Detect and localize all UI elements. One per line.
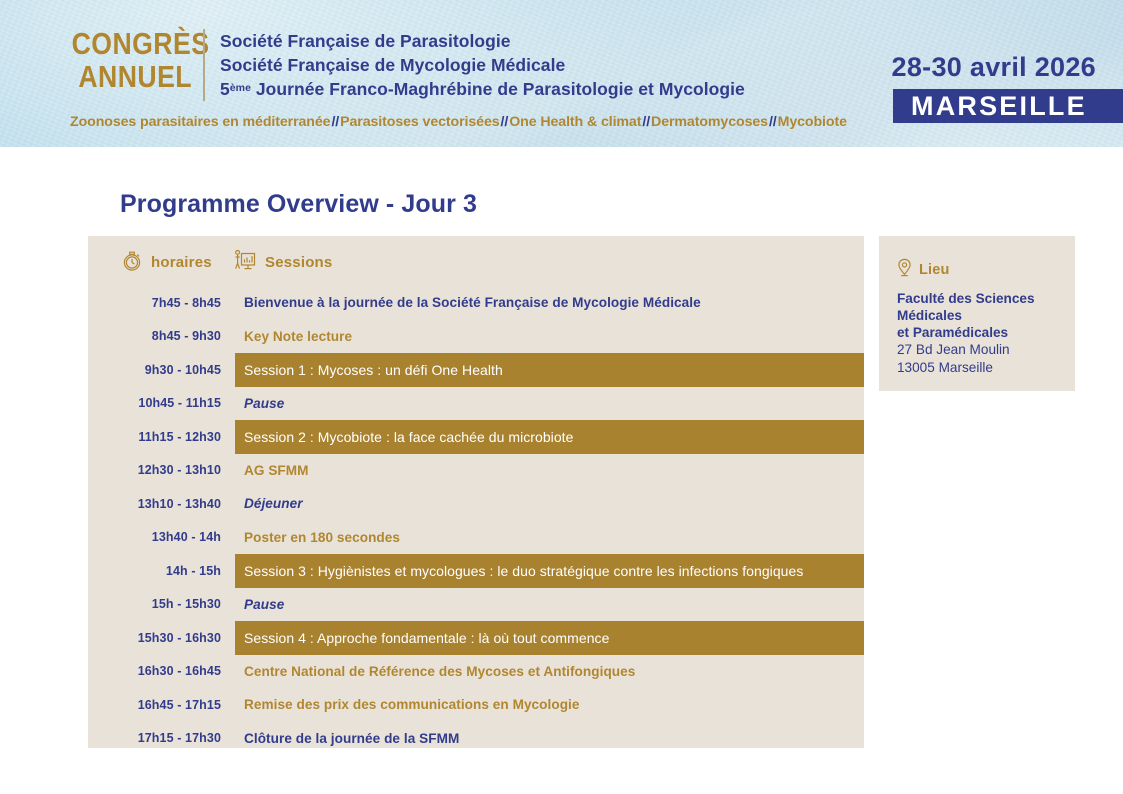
journee-line: 5ème Journée Franco-Maghrébine de Parasi… xyxy=(220,77,745,102)
table-row: 13h10 - 13h40Déjeuner xyxy=(88,487,864,521)
keyword-4: Dermatomycoses xyxy=(651,114,768,130)
keyword-separator: // xyxy=(768,114,778,130)
venue-address-line-1: 27 Bd Jean Moulin xyxy=(897,341,1059,359)
row-label: Centre National de Référence des Mycoses… xyxy=(235,655,864,689)
row-label: Pause xyxy=(235,588,864,622)
table-row: 16h30 - 16h45Centre National de Référenc… xyxy=(88,655,864,689)
row-time: 17h15 - 17h30 xyxy=(88,731,235,745)
programme-page: CONGRÈS ANNUEL Société Française de Para… xyxy=(0,0,1123,794)
session-bar[interactable]: Session 1 : Mycoses : un défi One Health xyxy=(235,353,864,387)
table-row: 14h - 15hSession 3 : Hygiènistes et myco… xyxy=(88,554,864,588)
table-row: 9h30 - 10h45Session 1 : Mycoses : un déf… xyxy=(88,353,864,387)
keyword-2: Parasitoses vectorisées xyxy=(340,114,499,130)
schedule-table: horaires xyxy=(88,236,864,748)
row-label: AG SFMM xyxy=(235,454,864,488)
session-bar[interactable]: Session 2 : Mycobiote : la face cachée d… xyxy=(235,420,864,454)
table-row: 8h45 - 9h30Key Note lecture xyxy=(88,320,864,354)
venue-name-line-2: Médicales xyxy=(897,307,1059,324)
header-banner: CONGRÈS ANNUEL Société Française de Para… xyxy=(0,0,1123,147)
venue-address-line-2: 13005 Marseille xyxy=(897,359,1059,377)
society-titles: Société Française de Parasitologie Socié… xyxy=(220,30,745,102)
keyword-5: Mycobiote xyxy=(778,114,847,130)
venue-panel: Lieu Faculté des Sciences Médicales et P… xyxy=(879,236,1075,391)
row-label: Clôture de la journée de la SFMM xyxy=(235,722,864,756)
stopwatch-icon xyxy=(121,248,143,277)
row-time: 12h30 - 13h10 xyxy=(88,463,235,477)
row-time: 8h45 - 9h30 xyxy=(88,329,235,343)
map-pin-icon xyxy=(897,258,912,282)
society-line-1: Société Française de Parasitologie xyxy=(220,30,745,54)
row-label: Bienvenue à la journée de la Société Fra… xyxy=(235,286,864,320)
table-row: 13h40 - 14hPoster en 180 secondes xyxy=(88,521,864,555)
logo-divider xyxy=(203,29,205,101)
row-time: 15h - 15h30 xyxy=(88,597,235,611)
logo-line-congres: CONGRÈS xyxy=(72,27,192,60)
row-time: 13h40 - 14h xyxy=(88,530,235,544)
table-row: 11h15 - 12h30Session 2 : Mycobiote : la … xyxy=(88,420,864,454)
session-bar[interactable]: Session 3 : Hygiènistes et mycologues : … xyxy=(235,554,864,588)
column-header-horaires: horaires xyxy=(121,248,212,277)
venue-name-line-1: Faculté des Sciences xyxy=(897,290,1059,307)
table-row: 7h45 - 8h45Bienvenue à la journée de la … xyxy=(88,286,864,320)
row-label: Pause xyxy=(235,387,864,421)
row-time: 9h30 - 10h45 xyxy=(88,363,235,377)
row-time: 10h45 - 11h15 xyxy=(88,396,235,410)
table-row: 12h30 - 13h10AG SFMM xyxy=(88,454,864,488)
congress-logo: CONGRÈS ANNUEL xyxy=(52,27,192,93)
keyword-separator: // xyxy=(330,114,340,130)
column-header-horaires-label: horaires xyxy=(151,254,212,271)
row-time: 13h10 - 13h40 xyxy=(88,497,235,511)
row-label: Déjeuner xyxy=(235,487,864,521)
row-label: Poster en 180 secondes xyxy=(235,521,864,555)
table-row: 10h45 - 11h15Pause xyxy=(88,387,864,421)
event-dates: 28-30 avril 2026 xyxy=(892,52,1096,83)
city-label: MARSEILLE xyxy=(911,91,1087,122)
column-header-sessions: Sessions xyxy=(233,248,332,277)
row-time: 15h30 - 16h30 xyxy=(88,631,235,645)
row-time: 16h45 - 17h15 xyxy=(88,698,235,712)
keyword-1: Zoonoses parasitaires en méditerranée xyxy=(70,114,330,130)
table-row: 15h - 15h30Pause xyxy=(88,588,864,622)
venue-name-line-3: et Paramédicales xyxy=(897,324,1059,341)
column-header-sessions-label: Sessions xyxy=(265,254,332,271)
row-label: Remise des prix des communications en My… xyxy=(235,688,864,722)
row-label: Key Note lecture xyxy=(235,320,864,354)
keyword-strip: Zoonoses parasitaires en méditerranée//P… xyxy=(70,114,847,130)
row-time: 7h45 - 8h45 xyxy=(88,296,235,310)
schedule-header: horaires xyxy=(88,236,864,286)
logo-line-annuel: ANNUEL xyxy=(72,60,192,93)
venue-header: Lieu xyxy=(897,258,1059,282)
presentation-board-icon xyxy=(233,248,257,277)
row-time: 11h15 - 12h30 xyxy=(88,430,235,444)
session-bar[interactable]: Session 4 : Approche fondamentale : là o… xyxy=(235,621,864,655)
keyword-3: One Health & climat xyxy=(509,114,641,130)
city-badge: MARSEILLE xyxy=(893,89,1123,123)
table-row: 17h15 - 17h30Clôture de la journée de la… xyxy=(88,722,864,756)
keyword-separator: // xyxy=(500,114,510,130)
venue-title: Lieu xyxy=(919,262,950,278)
row-time: 16h30 - 16h45 xyxy=(88,664,235,678)
journee-text: Journée Franco-Maghrébine de Parasitolog… xyxy=(251,79,745,99)
journee-number: 5 xyxy=(220,79,230,99)
keyword-separator: // xyxy=(641,114,651,130)
row-time: 14h - 15h xyxy=(88,564,235,578)
schedule-rows: 7h45 - 8h45Bienvenue à la journée de la … xyxy=(88,286,864,755)
journee-ordinal: ème xyxy=(230,82,251,94)
page-title: Programme Overview - Jour 3 xyxy=(120,190,477,219)
table-row: 16h45 - 17h15Remise des prix des communi… xyxy=(88,688,864,722)
society-line-2: Société Française de Mycologie Médicale xyxy=(220,54,745,78)
table-row: 15h30 - 16h30Session 4 : Approche fondam… xyxy=(88,621,864,655)
